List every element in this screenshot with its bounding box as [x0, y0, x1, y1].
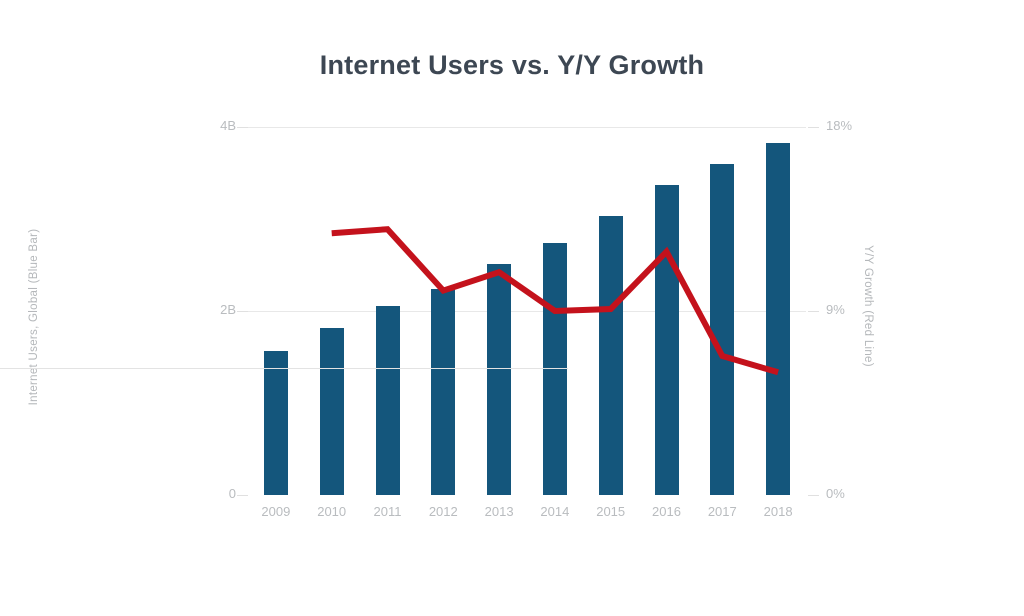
y-tick-left-2B: 2B — [196, 302, 236, 317]
x-tick-2011: 2011 — [358, 504, 418, 519]
x-tick-2012: 2012 — [413, 504, 473, 519]
growth-line-path — [332, 229, 778, 372]
plot-area — [248, 127, 806, 495]
y-tick-right-18%: 18% — [826, 118, 876, 133]
x-axis-baseline — [0, 368, 568, 369]
x-tick-2013: 2013 — [469, 504, 529, 519]
y-tick-left-4B: 4B — [196, 118, 236, 133]
y-tickmark-left — [237, 495, 248, 496]
y-tick-right-9%: 9% — [826, 302, 876, 317]
y-tickmark-left — [237, 311, 248, 312]
x-tick-2016: 2016 — [637, 504, 697, 519]
y-tickmark-left — [237, 127, 248, 128]
chart-container: Internet Users vs. Y/Y Growth Internet U… — [0, 0, 1024, 616]
line-series — [248, 127, 806, 495]
x-tick-2010: 2010 — [302, 504, 362, 519]
x-tick-2018: 2018 — [748, 504, 808, 519]
y-tickmark-right — [808, 311, 819, 312]
x-tick-2009: 2009 — [246, 504, 306, 519]
x-tick-2014: 2014 — [525, 504, 585, 519]
y-tick-right-0%: 0% — [826, 486, 876, 501]
y-tickmark-right — [808, 127, 819, 128]
chart-title: Internet Users vs. Y/Y Growth — [0, 50, 1024, 81]
x-tick-2017: 2017 — [692, 504, 752, 519]
x-tick-2015: 2015 — [581, 504, 641, 519]
y-axis-left-title: Internet Users, Global (Blue Bar) — [28, 217, 40, 417]
y-tickmark-right — [808, 495, 819, 496]
y-tick-left-0: 0 — [196, 486, 236, 501]
